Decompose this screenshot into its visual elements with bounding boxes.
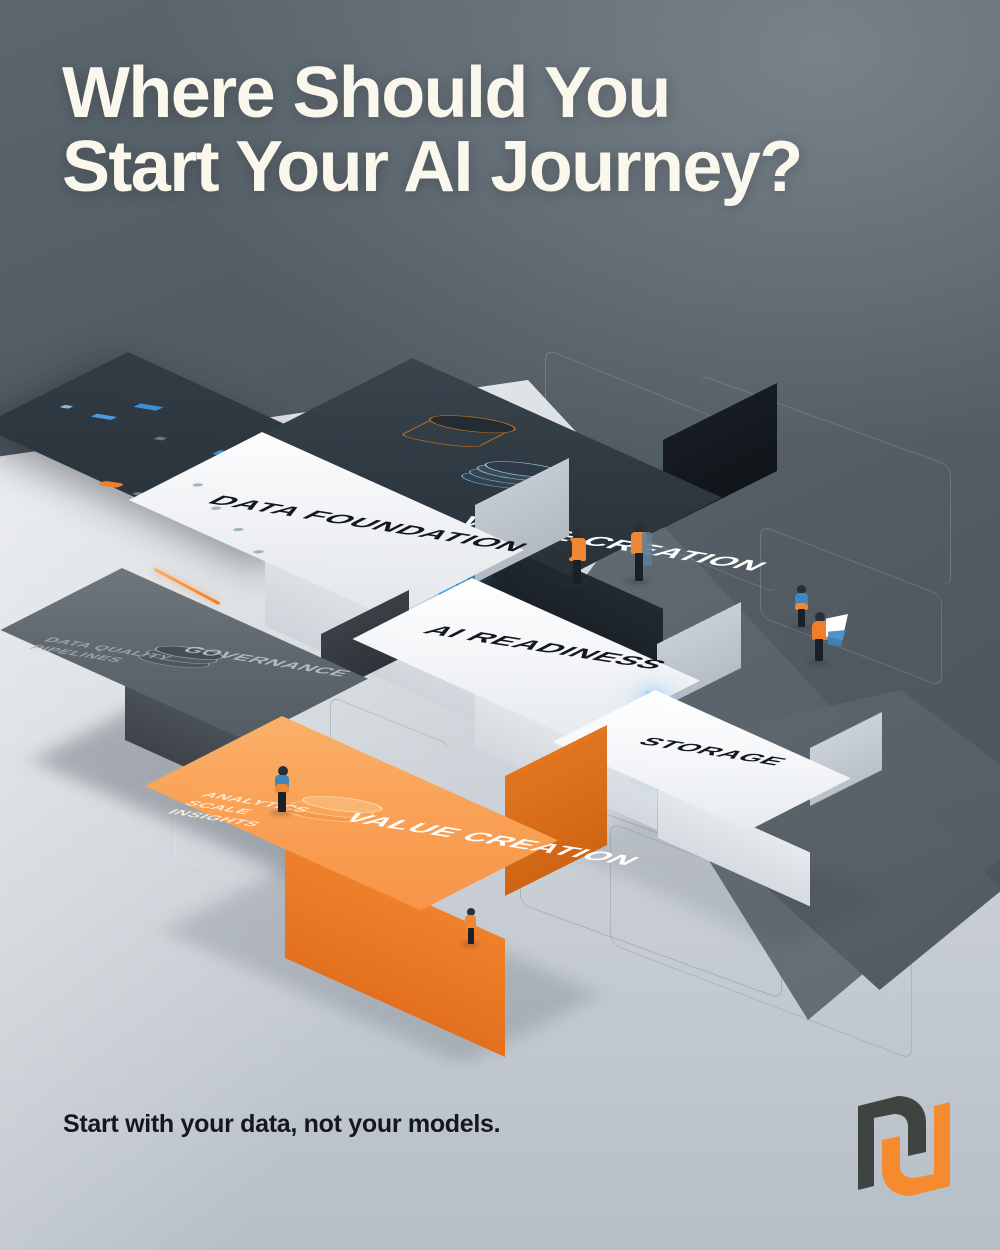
panel-accent [828,630,846,646]
surface-dot [251,550,265,554]
accent-chip-blue [133,403,163,410]
surface-dot [231,527,245,531]
poster-canvas: Where Should You Start Your AI Journey? [0,0,1000,1250]
surface-dot [190,483,204,487]
brand-logo[interactable] [852,1090,956,1202]
accent-chip-gray [154,437,168,441]
surface-dot [209,506,223,510]
orange-drum-cylinder [387,410,528,452]
accent-chip-blue [91,414,117,420]
accent-chip-orange [97,481,125,488]
caption-text: Start with your data, not your models. [63,1108,503,1140]
gray-disc-stack [121,642,233,675]
accent-chip-blue [60,405,74,409]
block-label-storage: STORAGE [631,736,792,769]
isometric-illustration: VALUE CREATION DATA FOUNDATION GOVERNANC… [0,0,1000,1250]
